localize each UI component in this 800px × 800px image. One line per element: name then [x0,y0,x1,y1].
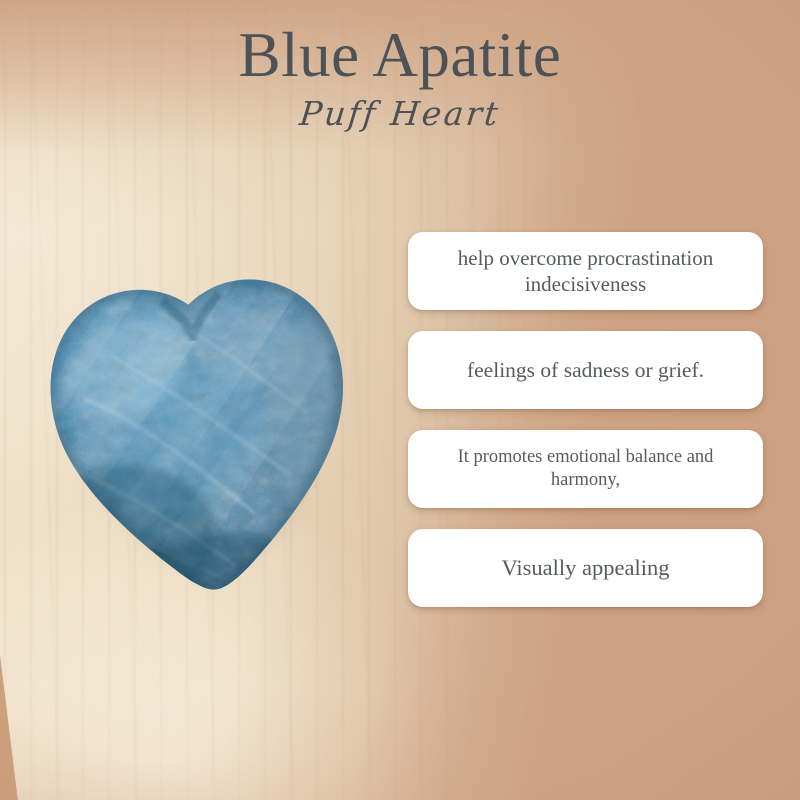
blue-apatite-heart-icon [48,268,358,598]
benefit-card-4[interactable]: Visually appealing [408,529,763,607]
product-poster: Blue Apatite Puff Heart [0,0,800,800]
benefit-card-1[interactable]: help overcome procrastination indecisive… [408,232,763,310]
page-title: Blue Apatite [0,22,800,88]
benefit-card-3[interactable]: It promotes emotional balance and harmon… [408,430,763,508]
benefit-card-2-text: feelings of sadness or grief. [467,357,704,384]
benefit-card-list: help overcome procrastination indecisive… [408,232,763,628]
benefit-card-3-text: It promotes emotional balance and harmon… [422,446,749,492]
page-subtitle: Puff Heart [0,94,800,133]
benefit-card-4-text: Visually appealing [502,554,670,582]
benefit-card-2[interactable]: feelings of sadness or grief. [408,331,763,409]
benefit-card-1-text: help overcome procrastination indecisive… [422,245,749,298]
product-image [48,268,358,598]
poster-header: Blue Apatite Puff Heart [0,0,800,133]
